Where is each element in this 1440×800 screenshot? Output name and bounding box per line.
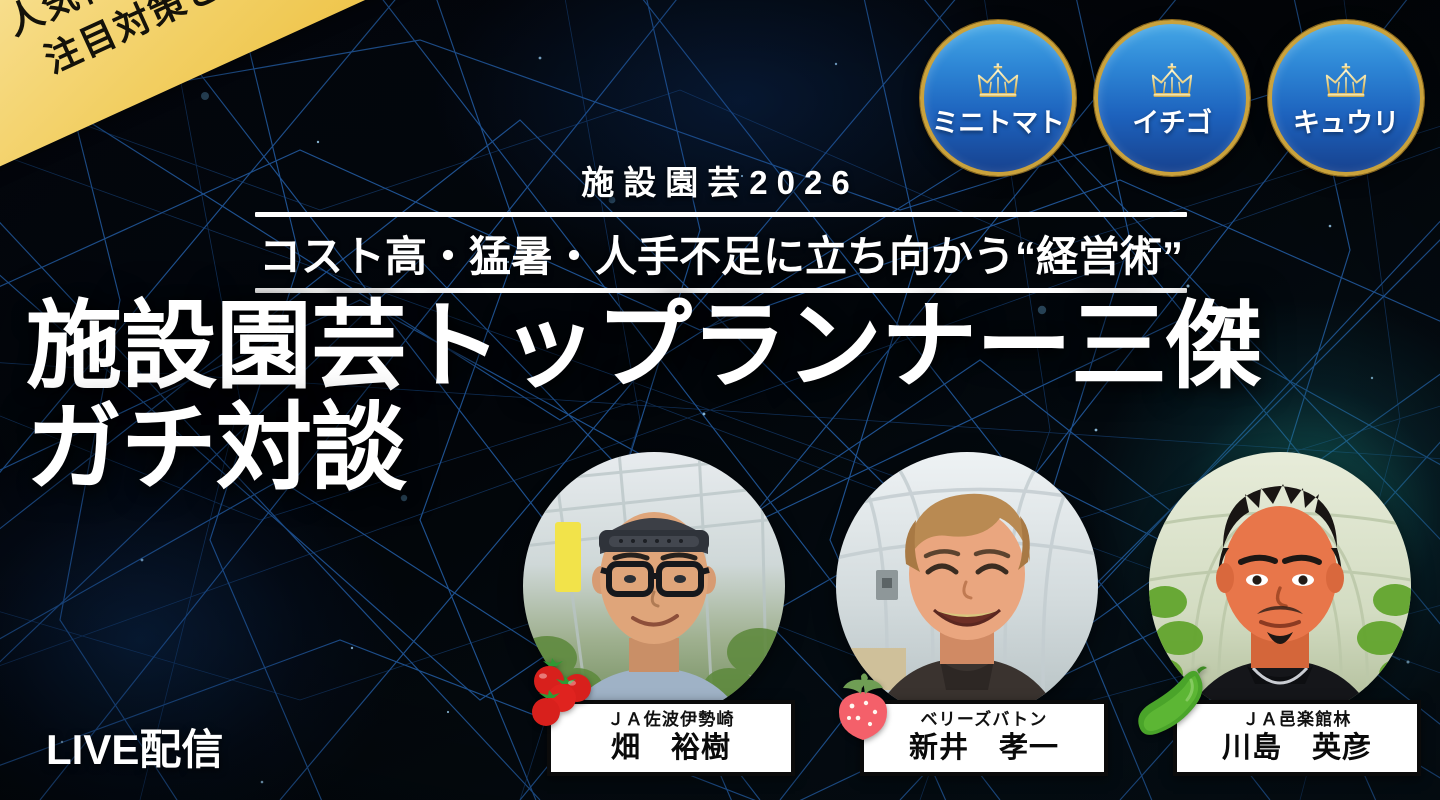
speaker-name: 畑 裕樹 bbox=[557, 732, 785, 765]
speaker-group: ＪＡ佐波伊勢崎 畑 裕樹 bbox=[505, 452, 1435, 800]
crop-badge-strawberry[interactable]: イチゴ bbox=[1094, 20, 1250, 176]
crown-icon bbox=[1323, 63, 1369, 99]
speaker-card[interactable]: ＪＡ邑楽館林 川島 英彦 bbox=[1131, 452, 1431, 800]
crop-badge-label: イチゴ bbox=[1132, 101, 1212, 140]
crown-icon bbox=[975, 63, 1021, 99]
subheadline: コスト高・猛暑・人手不足に立ち向かう“経営術” bbox=[255, 217, 1187, 288]
speaker-org: ベリーズバトン bbox=[870, 709, 1098, 730]
speaker-org: ＪＡ邑楽館林 bbox=[1183, 709, 1411, 730]
crown-icon bbox=[1149, 63, 1195, 99]
cucumber-icon bbox=[1135, 662, 1217, 744]
speaker-name: 新井 孝一 bbox=[870, 732, 1098, 765]
promo-banner: 人気作物の実力派が語る 注目対策と現場の工夫 ミニトマト bbox=[0, 0, 1440, 800]
tomato-icon bbox=[527, 658, 603, 734]
event-eyebrow: 施設園芸2026 bbox=[0, 156, 1440, 204]
crop-badge-label: キュウリ bbox=[1293, 101, 1399, 140]
crop-badge-cucumber[interactable]: キュウリ bbox=[1268, 20, 1424, 176]
crop-badge-group: ミニトマト イチゴ キュウリ bbox=[920, 20, 1424, 176]
page-title-line-1: 施設園芸トップランナー三傑 bbox=[26, 296, 1261, 398]
strawberry-icon bbox=[828, 672, 898, 742]
speaker-card[interactable]: ベリーズバトン 新井 孝一 bbox=[818, 452, 1118, 800]
crop-badge-tomato[interactable]: ミニトマト bbox=[920, 20, 1076, 176]
live-badge: LIVE配信 bbox=[46, 716, 223, 777]
subheadline-block: コスト高・猛暑・人手不足に立ち向かう“経営術” bbox=[255, 212, 1187, 293]
crop-badge-label: ミニトマト bbox=[932, 101, 1065, 140]
speaker-name: 川島 英彦 bbox=[1183, 732, 1411, 765]
speaker-card[interactable]: ＪＡ佐波伊勢崎 畑 裕樹 bbox=[505, 452, 805, 800]
